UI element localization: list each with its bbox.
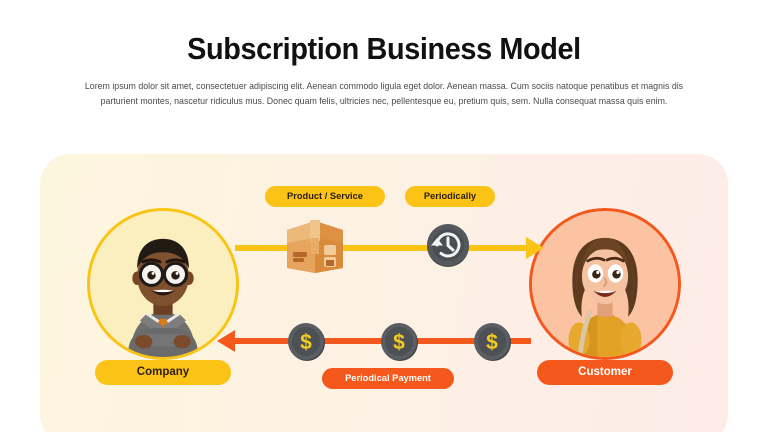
payment-flow-arrowhead-icon [217,330,235,352]
customer-label-pill[interactable]: Customer [537,360,673,385]
svg-text:$: $ [393,331,405,354]
tag-periodical-payment[interactable]: Periodical Payment [322,368,454,389]
svg-text:$: $ [300,331,312,354]
tag-product-service[interactable]: Product / Service [265,186,385,207]
recurring-clock-icon [425,222,471,268]
dollar-coin-icon: $ [380,322,419,361]
page-title: Subscription Business Model [27,31,741,67]
delivery-flow-line [235,245,531,251]
woman-customer-avatar-icon [529,208,681,360]
company-label-pill[interactable]: Company [95,360,231,385]
dollar-coin-icon: $ [287,322,326,361]
page-description: Lorem ipsum dolor sit amet, consectetuer… [78,79,689,108]
delivery-flow-arrowhead-icon [526,237,544,259]
tag-periodically[interactable]: Periodically [405,186,495,207]
dollar-coin-icon: $ [473,322,512,361]
package-box-icon [285,216,345,274]
svg-text:$: $ [486,331,498,354]
diagram-panel: Product / Service Periodically Periodica… [40,154,728,432]
